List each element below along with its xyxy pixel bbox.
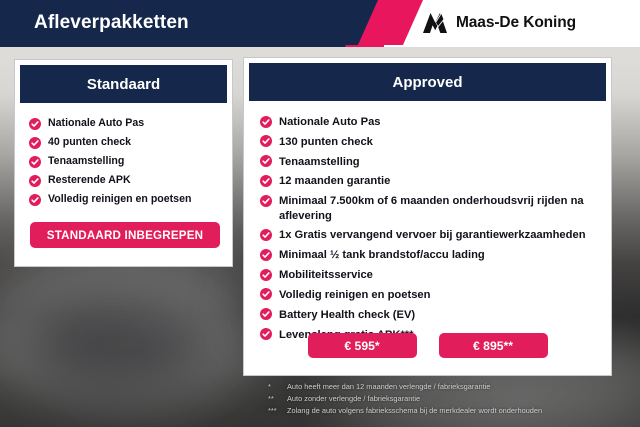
feature-list-approved: Nationale Auto Pas 130 punten check Tena… [244,101,611,342]
footnote-triple-asterisk: *** Zolang de auto volgens fabrieksschem… [268,405,628,417]
price-button-row: € 595* € 895** [244,333,611,358]
header-underline [0,45,640,47]
list-item: Minimaal 7.500km of 6 maanden onderhouds… [260,194,601,223]
feature-label: Battery Health check (EV) [279,308,415,322]
check-circle-icon [260,135,272,147]
list-item: Mobiliteitsservice [260,268,601,282]
footnotes-block: * Auto heeft meer dan 12 maanden verleng… [268,381,628,417]
footnote-text: Zolang de auto volgens fabrieksschema bi… [287,405,542,417]
list-item: 1x Gratis vervangend vervoer bij garanti… [260,228,601,242]
feature-label: Resterende APK [48,174,131,188]
list-item: 130 punten check [260,135,601,149]
price-button-595[interactable]: € 595* [308,333,417,358]
brand-lockup: Maas-De Koning [422,0,576,45]
footnote-text: Auto zonder verlengde / fabrieksgarantie [287,393,420,405]
check-circle-icon [260,308,272,320]
background-blur-shadow [30,300,210,390]
feature-label: Minimaal ½ tank brandstof/accu lading [279,248,485,262]
brand-name: Maas-De Koning [456,14,576,32]
advertisement-canvas: Afleverpakketten Maas-De Koning Standaar… [0,0,640,427]
check-circle-icon [260,195,272,207]
price-button-895[interactable]: € 895** [439,333,548,358]
list-item: Volledig reinigen en poetsen [260,288,601,302]
feature-label: Mobiliteitsservice [279,268,373,282]
feature-label: Nationale Auto Pas [279,115,381,129]
footnote-single-asterisk: * Auto heeft meer dan 12 maanden verleng… [268,381,628,393]
card-title-standaard: Standaard [20,65,227,103]
feature-label: Volledig reinigen en poetsen [279,288,430,302]
feature-label: Minimaal 7.500km of 6 maanden onderhouds… [279,194,601,223]
check-circle-icon [260,175,272,187]
check-circle-icon [29,118,41,130]
maas-de-koning-m-logo-icon [422,12,448,34]
check-circle-icon [29,156,41,168]
check-circle-icon [29,137,41,149]
check-circle-icon [260,288,272,300]
feature-label: Tenaamstelling [48,155,124,169]
list-item: Battery Health check (EV) [260,308,601,322]
feature-label: Volledig reinigen en poetsen [48,193,191,207]
list-item: Nationale Auto Pas [29,117,224,131]
feature-label: Tenaamstelling [279,155,360,169]
footnote-marker: ** [268,393,281,405]
page-title: Afleverpakketten [34,0,189,45]
list-item: Minimaal ½ tank brandstof/accu lading [260,248,601,262]
check-circle-icon [260,229,272,241]
feature-label: 12 maanden garantie [279,174,390,188]
list-item: Resterende APK [29,174,224,188]
footnote-marker: * [268,381,281,393]
check-circle-icon [260,249,272,261]
feature-label: 1x Gratis vervangend vervoer bij garanti… [279,228,586,242]
list-item: 40 punten check [29,136,224,150]
footnote-text: Auto heeft meer dan 12 maanden verlengde… [287,381,490,393]
list-item: Nationale Auto Pas [260,115,601,129]
list-item: 12 maanden garantie [260,174,601,188]
package-card-approved: Approved Nationale Auto Pas 130 punten c… [243,57,612,376]
feature-label: 40 punten check [48,136,131,150]
list-item: Tenaamstelling [260,155,601,169]
standaard-inbegrepen-button[interactable]: STANDAARD INBEGREPEN [30,222,220,248]
check-circle-icon [260,269,272,281]
feature-label: Nationale Auto Pas [48,117,144,131]
feature-list-standaard: Nationale Auto Pas 40 punten check Tenaa… [15,103,232,207]
check-circle-icon [29,194,41,206]
footnote-double-asterisk: ** Auto zonder verlengde / fabrieksgaran… [268,393,628,405]
package-card-standaard: Standaard Nationale Auto Pas 40 punten c… [14,59,233,267]
check-circle-icon [29,175,41,187]
background-blur-highlight [0,255,260,405]
list-item: Volledig reinigen en poetsen [29,193,224,207]
check-circle-icon [260,155,272,167]
feature-label: 130 punten check [279,135,373,149]
card-title-approved: Approved [249,63,606,101]
check-circle-icon [260,116,272,128]
footnote-marker: *** [268,405,281,417]
list-item: Tenaamstelling [29,155,224,169]
page-header: Afleverpakketten Maas-De Koning [0,0,640,45]
